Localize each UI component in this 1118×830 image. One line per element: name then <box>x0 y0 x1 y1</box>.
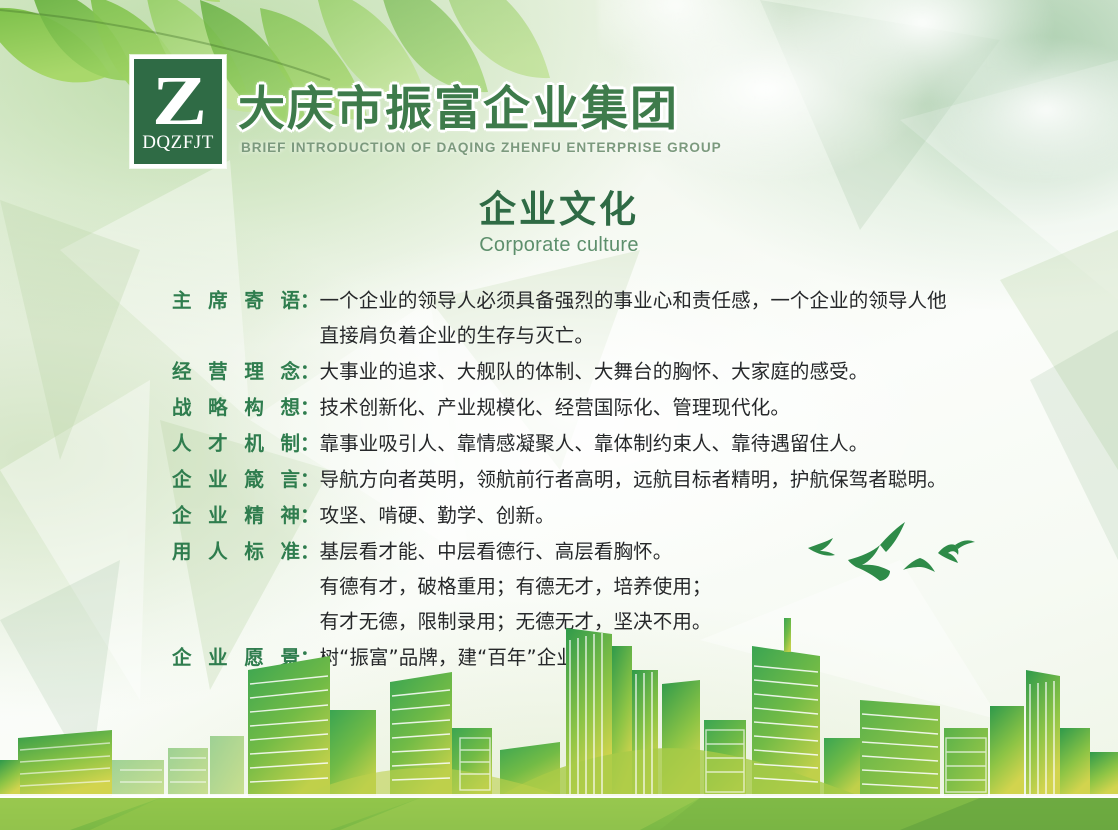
culture-entry: 战略构想：技术创新化、产业规模化、经营国际化、管理现代化。 <box>172 390 1002 425</box>
culture-entry-label: 企业精神 <box>172 498 300 533</box>
culture-entry-line: 直接肩负着企业的生存与灭亡。 <box>320 318 1002 353</box>
culture-entry-line: 大事业的追求、大舰队的体制、大舞台的胸怀、大家庭的感受。 <box>320 354 1002 389</box>
birds-icon <box>800 518 980 602</box>
poster-canvas: Z DQZFJT 大庆市振富企业集团 BRIEF INTRODUCTION OF… <box>0 0 1118 830</box>
culture-entry-colon: ： <box>300 283 320 318</box>
culture-entry-value: 靠事业吸引人、靠情感凝聚人、靠体制约束人、靠待遇留住人。 <box>320 426 1002 461</box>
culture-entry: 经营理念：大事业的追求、大舰队的体制、大舞台的胸怀、大家庭的感受。 <box>172 354 1002 389</box>
culture-entry-label: 主席寄语 <box>172 283 300 318</box>
company-name-en: BRIEF INTRODUCTION OF DAQING ZHENFU ENTE… <box>241 140 722 155</box>
culture-entry-value: 导航方向者英明，领航前行者高明，远航目标者精明，护航保驾者聪明。 <box>320 462 1002 497</box>
culture-entry-line: 导航方向者英明，领航前行者高明，远航目标者精明，护航保驾者聪明。 <box>320 462 1002 497</box>
section-title-block: 企业文化 Corporate culture <box>0 190 1118 257</box>
company-logo: Z DQZFJT <box>130 55 226 168</box>
culture-entry-colon: ： <box>300 426 320 461</box>
culture-entry-colon: ： <box>300 354 320 389</box>
culture-entry-label: 企业箴言 <box>172 462 300 497</box>
culture-entry-value: 大事业的追求、大舰队的体制、大舞台的胸怀、大家庭的感受。 <box>320 354 1002 389</box>
logo-letter: Z <box>152 73 205 130</box>
company-name-cn: 大庆市振富企业集团 <box>238 86 722 133</box>
culture-entry-line: 技术创新化、产业规模化、经营国际化、管理现代化。 <box>320 390 1002 425</box>
city-skyline-icon <box>0 610 1118 830</box>
culture-entry: 主席寄语：一个企业的领导人必须具备强烈的事业心和责任感，一个企业的领导人他直接肩… <box>172 283 1002 353</box>
culture-entry-label: 人才机制 <box>172 426 300 461</box>
culture-entry-colon: ： <box>300 498 320 533</box>
culture-entry-value: 技术创新化、产业规模化、经营国际化、管理现代化。 <box>320 390 1002 425</box>
culture-entry-label: 经营理念 <box>172 354 300 389</box>
culture-entry-colon: ： <box>300 390 320 425</box>
culture-entry-colon: ： <box>300 462 320 497</box>
culture-entry-line: 一个企业的领导人必须具备强烈的事业心和责任感，一个企业的领导人他 <box>320 283 1002 318</box>
culture-entry-value: 一个企业的领导人必须具备强烈的事业心和责任感，一个企业的领导人他直接肩负着企业的… <box>320 283 1002 353</box>
culture-entry-colon: ： <box>300 534 320 569</box>
culture-entry-label: 用人标准 <box>172 534 300 569</box>
section-title-cn: 企业文化 <box>0 190 1118 231</box>
culture-entry-line: 靠事业吸引人、靠情感凝聚人、靠体制约束人、靠待遇留住人。 <box>320 426 1002 461</box>
culture-entry-label: 战略构想 <box>172 390 300 425</box>
brand-header: Z DQZFJT 大庆市振富企业集团 BRIEF INTRODUCTION OF… <box>130 55 722 168</box>
culture-entry: 企业箴言：导航方向者英明，领航前行者高明，远航目标者精明，护航保驾者聪明。 <box>172 462 1002 497</box>
section-title-en: Corporate culture <box>0 234 1118 257</box>
culture-entry: 人才机制：靠事业吸引人、靠情感凝聚人、靠体制约束人、靠待遇留住人。 <box>172 426 1002 461</box>
